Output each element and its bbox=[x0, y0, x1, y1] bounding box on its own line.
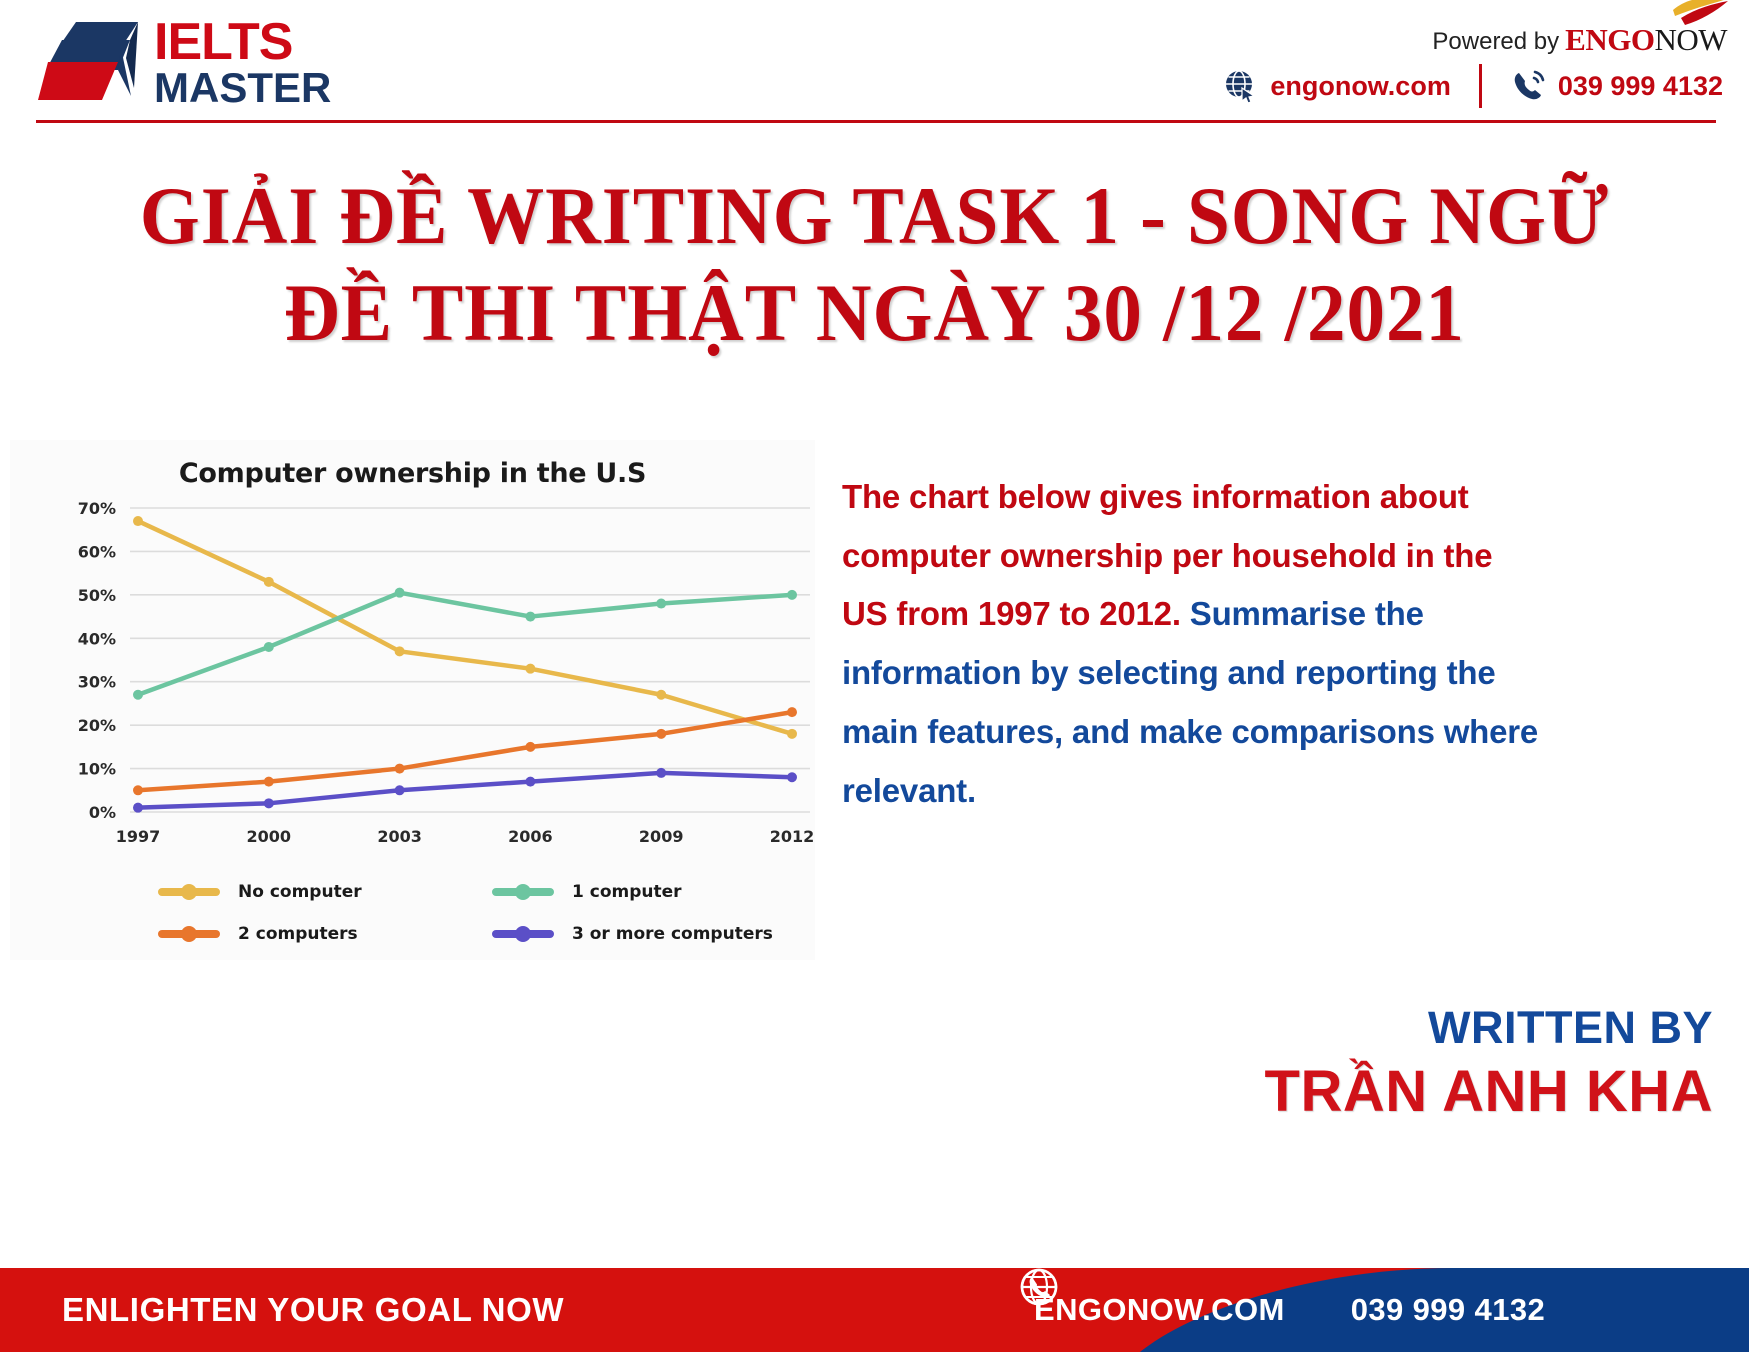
page-title-line-2: ĐỀ THI THẬT NGÀY 30 /12 /2021 bbox=[52, 265, 1696, 362]
data-point bbox=[525, 742, 535, 752]
legend-column: No computer2 computers bbox=[158, 882, 362, 944]
y-axis-tick-label: 50% bbox=[78, 586, 116, 605]
y-axis-tick-label: 20% bbox=[78, 716, 116, 735]
data-point bbox=[525, 664, 535, 674]
x-axis-tick-label: 1997 bbox=[116, 827, 161, 846]
legend-swatch-icon bbox=[158, 930, 220, 938]
powered-by-label: Powered by bbox=[1432, 28, 1559, 56]
page-title: GIẢI ĐỀ WRITING TASK 1 - SONG NGỮ ĐỀ THI… bbox=[0, 168, 1749, 362]
legend-swatch-icon bbox=[492, 888, 554, 896]
x-axis-tick-label: 2012 bbox=[770, 827, 815, 846]
phone-ring-icon bbox=[1510, 68, 1546, 104]
data-point bbox=[395, 646, 405, 656]
series-line-no-computer bbox=[138, 521, 792, 734]
footer-website-text: ENGONOW.COM bbox=[1034, 1292, 1285, 1328]
header-divider-rule bbox=[36, 120, 1716, 123]
series-line-3-or-more-computers bbox=[138, 773, 792, 808]
data-point bbox=[656, 729, 666, 739]
author-name: TRẦN ANH KHA bbox=[1265, 1056, 1713, 1129]
series-line-1-computer bbox=[138, 593, 792, 695]
y-axis-tick-label: 0% bbox=[89, 803, 116, 822]
legend-label: 2 computers bbox=[238, 924, 358, 944]
data-point bbox=[395, 588, 405, 598]
footer-tagline: ENLIGHTEN YOUR GOAL NOW bbox=[62, 1268, 564, 1352]
y-axis-tick-label: 60% bbox=[78, 542, 116, 561]
globe-cursor-icon bbox=[1224, 69, 1258, 103]
legend-item-1-computer[interactable]: 1 computer bbox=[492, 882, 773, 902]
x-axis-tick-label: 2003 bbox=[377, 827, 422, 846]
y-axis-tick-label: 40% bbox=[78, 629, 116, 648]
data-point bbox=[264, 798, 274, 808]
written-by-label: WRITTEN BY bbox=[1265, 1000, 1713, 1056]
data-point bbox=[395, 785, 405, 795]
y-axis-tick-label: 10% bbox=[78, 760, 116, 779]
legend-swatch-icon bbox=[158, 888, 220, 896]
x-axis-tick-label: 2000 bbox=[247, 827, 292, 846]
header-website[interactable]: engonow.com bbox=[1224, 69, 1451, 103]
chart-legend: No computer2 computers1 computer3 or mor… bbox=[10, 860, 815, 940]
footer-website[interactable]: ENGONOW.COM bbox=[1020, 1292, 1285, 1328]
page-title-line-1: GIẢI ĐỀ WRITING TASK 1 - SONG NGỮ bbox=[52, 168, 1696, 265]
footer-phone-text: 039 999 4132 bbox=[1351, 1292, 1545, 1328]
footer-phone[interactable]: 039 999 4132 bbox=[1337, 1292, 1545, 1328]
chart-card: Computer ownership in the U.S 0%10%20%30… bbox=[10, 440, 815, 960]
data-point bbox=[264, 777, 274, 787]
data-point bbox=[395, 764, 405, 774]
header-phone-text: 039 999 4132 bbox=[1558, 71, 1723, 102]
data-point bbox=[264, 642, 274, 652]
line-chart-plot: 0%10%20%30%40%50%60%70%19972000200320062… bbox=[10, 440, 815, 870]
data-point bbox=[133, 785, 143, 795]
data-point bbox=[656, 768, 666, 778]
data-point bbox=[656, 599, 666, 609]
legend-item-no-computer[interactable]: No computer bbox=[158, 882, 362, 902]
footer-contact-row: ENGONOW.COM 039 999 4132 bbox=[1020, 1268, 1545, 1352]
header-phone[interactable]: 039 999 4132 bbox=[1510, 68, 1723, 104]
data-point bbox=[787, 772, 797, 782]
legend-label: No computer bbox=[238, 882, 362, 902]
data-point bbox=[525, 777, 535, 787]
data-point bbox=[264, 577, 274, 587]
y-axis-tick-label: 70% bbox=[78, 499, 116, 518]
logo-primary-text: IELTS bbox=[154, 18, 331, 67]
powered-by-block: Powered by ENGONOW bbox=[1432, 22, 1727, 58]
header-contact-row: engonow.com 039 999 4132 bbox=[1224, 64, 1723, 108]
task-prompt: The chart below gives information about … bbox=[842, 468, 1542, 820]
data-point bbox=[133, 690, 143, 700]
brand-logo[interactable]: IELTS MASTER bbox=[38, 18, 331, 108]
header-website-text: engonow.com bbox=[1270, 71, 1451, 102]
engonow-strong: ENGO bbox=[1565, 22, 1654, 57]
data-point bbox=[133, 516, 143, 526]
data-point bbox=[656, 690, 666, 700]
author-credit: WRITTEN BY TRẦN ANH KHA bbox=[1265, 1000, 1713, 1129]
y-axis-tick-label: 30% bbox=[78, 673, 116, 692]
data-point bbox=[787, 707, 797, 717]
page-footer: ENLIGHTEN YOUR GOAL NOW ENGONOW.COM bbox=[0, 1268, 1749, 1352]
page-header: IELTS MASTER Powered by ENGONOW bbox=[0, 0, 1749, 130]
series-line-2-computers bbox=[138, 712, 792, 790]
x-axis-tick-label: 2009 bbox=[639, 827, 684, 846]
data-point bbox=[525, 612, 535, 622]
legend-column: 1 computer3 or more computers bbox=[492, 882, 773, 944]
engonow-wordmark: ENGONOW bbox=[1565, 22, 1727, 58]
header-divider bbox=[1479, 64, 1482, 108]
logo-secondary-text: MASTER bbox=[154, 68, 331, 108]
data-point bbox=[133, 803, 143, 813]
data-point bbox=[787, 590, 797, 600]
legend-label: 3 or more computers bbox=[572, 924, 773, 944]
book-swoosh-icon bbox=[1671, 0, 1729, 34]
x-axis-tick-label: 2006 bbox=[508, 827, 553, 846]
legend-item-2-computers[interactable]: 2 computers bbox=[158, 924, 362, 944]
data-point bbox=[787, 729, 797, 739]
legend-label: 1 computer bbox=[572, 882, 682, 902]
stacked-books-icon bbox=[38, 18, 148, 108]
legend-item-3-or-more-computers[interactable]: 3 or more computers bbox=[492, 924, 773, 944]
legend-swatch-icon bbox=[492, 930, 554, 938]
